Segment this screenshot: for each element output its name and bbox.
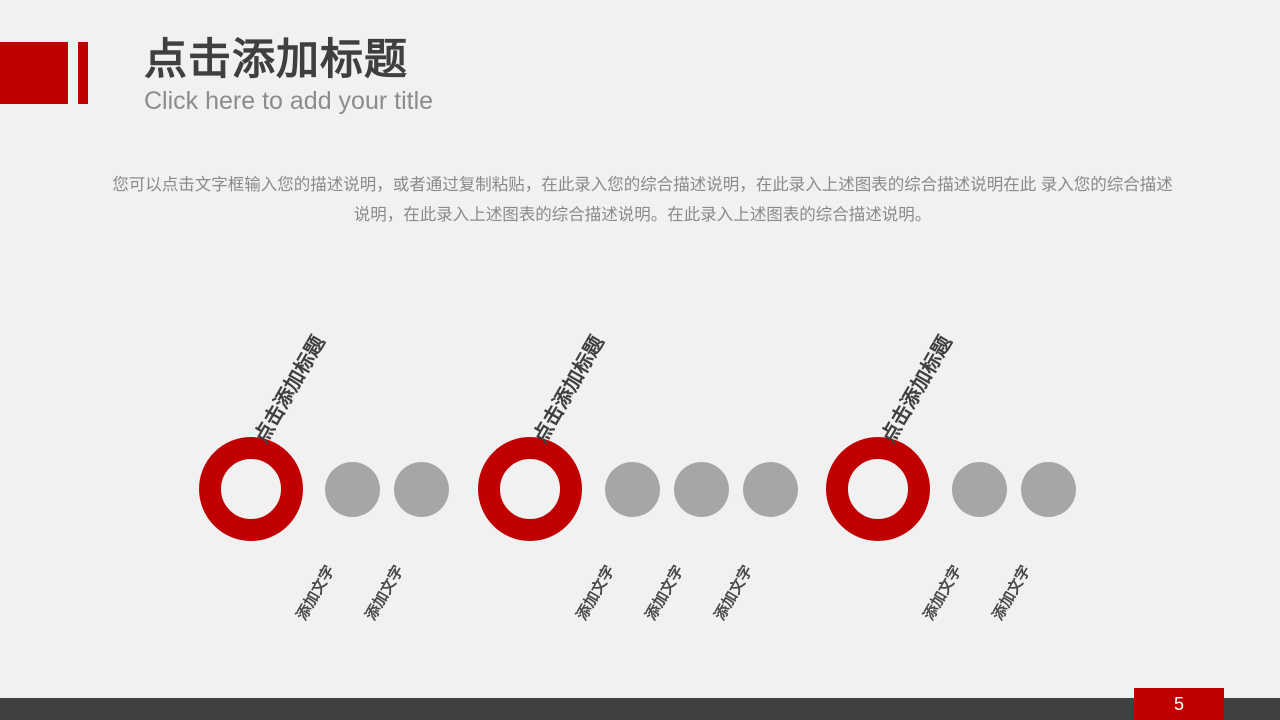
dot-2-2[interactable]: [674, 462, 729, 517]
dot-3-2-label[interactable]: 添加文字: [987, 561, 1035, 623]
ring-3-label[interactable]: 点击添加标题: [872, 329, 957, 447]
dot-2-1[interactable]: [605, 462, 660, 517]
ring-2-label[interactable]: 点击添加标题: [524, 329, 609, 447]
dot-3-2[interactable]: [1021, 462, 1076, 517]
dot-2-2-label[interactable]: 添加文字: [640, 561, 688, 623]
footer-bar: [0, 698, 1280, 720]
circles-diagram: 点击添加标题 添加文字 添加文字 点击添加标题 添加文字 添加文字 添加文字 点…: [0, 0, 1280, 720]
slide-canvas: 点击添加标题 Click here to add your title 您可以点…: [0, 0, 1280, 720]
dot-3-1[interactable]: [952, 462, 1007, 517]
ring-1-label[interactable]: 点击添加标题: [245, 329, 330, 447]
dot-1-1[interactable]: [325, 462, 380, 517]
dot-1-1-label[interactable]: 添加文字: [291, 561, 339, 623]
dot-2-1-label[interactable]: 添加文字: [571, 561, 619, 623]
dot-1-2-label[interactable]: 添加文字: [360, 561, 408, 623]
ring-2[interactable]: [478, 437, 582, 541]
page-number: 5: [1134, 688, 1224, 720]
ring-3[interactable]: [826, 437, 930, 541]
dot-1-2[interactable]: [394, 462, 449, 517]
ring-1[interactable]: [199, 437, 303, 541]
dot-2-3[interactable]: [743, 462, 798, 517]
dot-3-1-label[interactable]: 添加文字: [918, 561, 966, 623]
dot-2-3-label[interactable]: 添加文字: [709, 561, 757, 623]
